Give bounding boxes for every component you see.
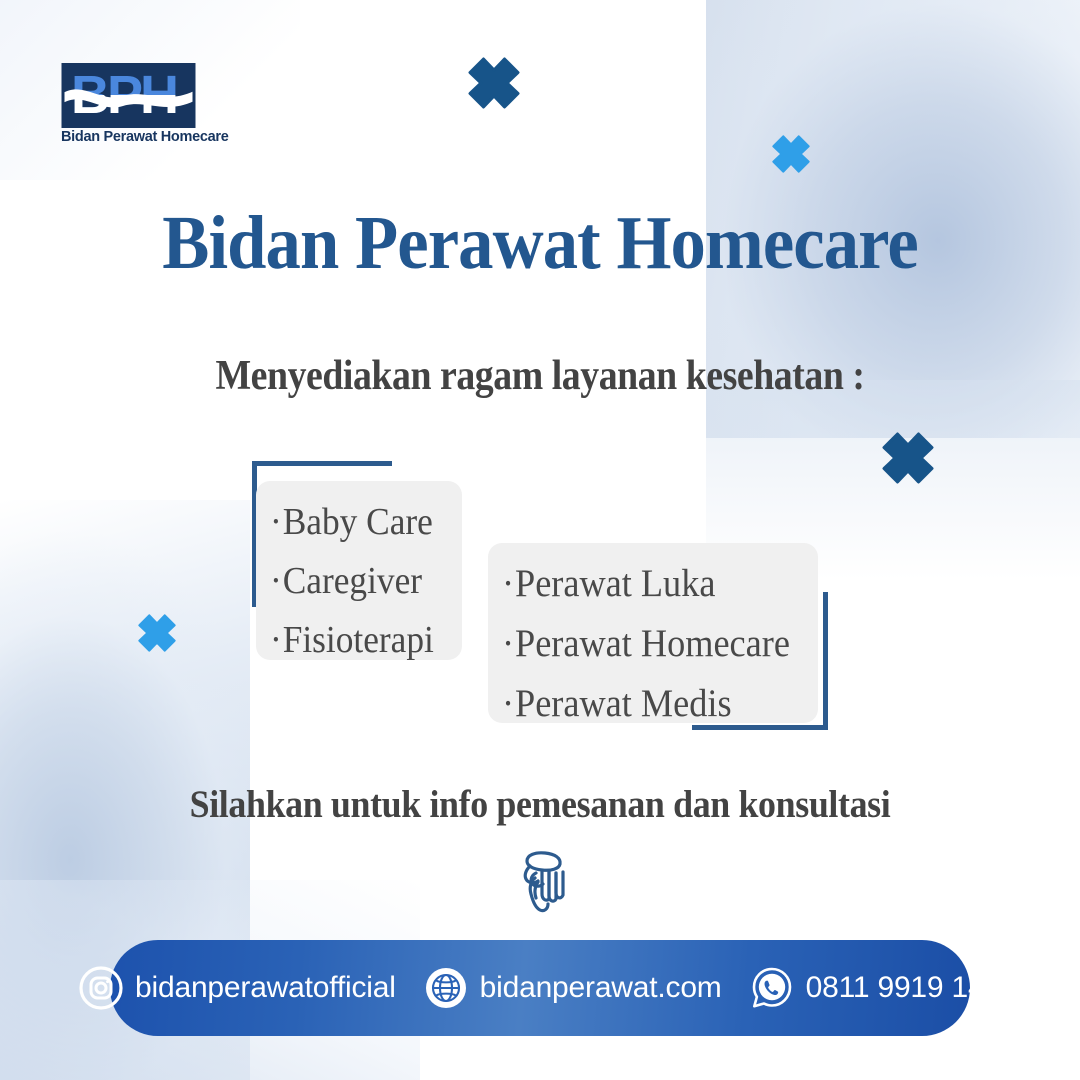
service-label: Fisioterapi bbox=[283, 619, 434, 661]
section-subtitle: Menyediakan ragam layanan kesehatan : bbox=[54, 348, 1026, 404]
service-label: Baby Care bbox=[283, 501, 433, 543]
cross-light-left-icon bbox=[138, 614, 176, 652]
contact-website[interactable]: bidanperawat.com bbox=[410, 966, 736, 1010]
service-list-left: ·Baby Care ·Caregiver ·Fisioterapi bbox=[256, 481, 462, 660]
instagram-icon bbox=[79, 966, 123, 1010]
bullet-icon: · bbox=[270, 501, 283, 543]
page-title: Bidan Perawat Homecare bbox=[38, 195, 1042, 291]
contact-footer-bar: bidanperawatofficial bidanperawat.com bbox=[110, 940, 970, 1036]
bullet-icon: · bbox=[270, 560, 283, 602]
list-item: ·Perawat Luka bbox=[502, 554, 781, 614]
service-label: Caregiver bbox=[283, 560, 422, 602]
bracket-right-vertical bbox=[823, 592, 828, 730]
brand-logo: BPH BPH Bidan Perawat Homecare bbox=[61, 63, 196, 155]
poster-canvas: BPH BPH Bidan Perawat Homecare Bidan Per… bbox=[0, 0, 1080, 1080]
logo-caption: Bidan Perawat Homecare bbox=[61, 129, 196, 145]
website-url: bidanperawat.com bbox=[480, 971, 722, 1005]
list-item: ·Fisioterapi bbox=[270, 611, 434, 670]
cross-dark-right-icon bbox=[882, 432, 934, 484]
globe-icon bbox=[424, 966, 468, 1010]
instagram-handle: bidanperawatofficial bbox=[135, 971, 396, 1005]
list-item: ·Caregiver bbox=[270, 552, 434, 611]
list-item: ·Perawat Homecare bbox=[502, 614, 781, 674]
cross-light-upper-right-icon bbox=[772, 135, 810, 173]
bullet-icon: · bbox=[270, 619, 283, 661]
service-label: Perawat Medis bbox=[515, 682, 732, 725]
service-list-right: ·Perawat Luka ·Perawat Homecare ·Perawat… bbox=[488, 543, 818, 723]
pointing-down-hand-icon bbox=[507, 848, 573, 916]
whatsapp-number: 0811 9919 144 bbox=[806, 971, 1001, 1005]
bullet-icon: · bbox=[502, 562, 515, 605]
contact-instagram[interactable]: bidanperawatofficial bbox=[65, 966, 410, 1010]
list-item: ·Baby Care bbox=[270, 493, 434, 552]
service-label: Perawat Homecare bbox=[515, 622, 790, 665]
bullet-icon: · bbox=[502, 622, 515, 665]
whatsapp-icon bbox=[750, 966, 794, 1010]
service-label: Perawat Luka bbox=[515, 562, 715, 605]
bullet-icon: · bbox=[502, 682, 515, 725]
list-item: ·Perawat Medis bbox=[502, 674, 781, 734]
contact-whatsapp[interactable]: 0811 9919 144 bbox=[736, 966, 1015, 1010]
cta-text: Silahkan untuk info pemesanan dan konsul… bbox=[43, 780, 1037, 830]
bph-logo-icon: BPH BPH bbox=[61, 63, 196, 128]
bracket-left-horizontal bbox=[252, 461, 392, 466]
cross-dark-top-icon bbox=[468, 57, 520, 109]
